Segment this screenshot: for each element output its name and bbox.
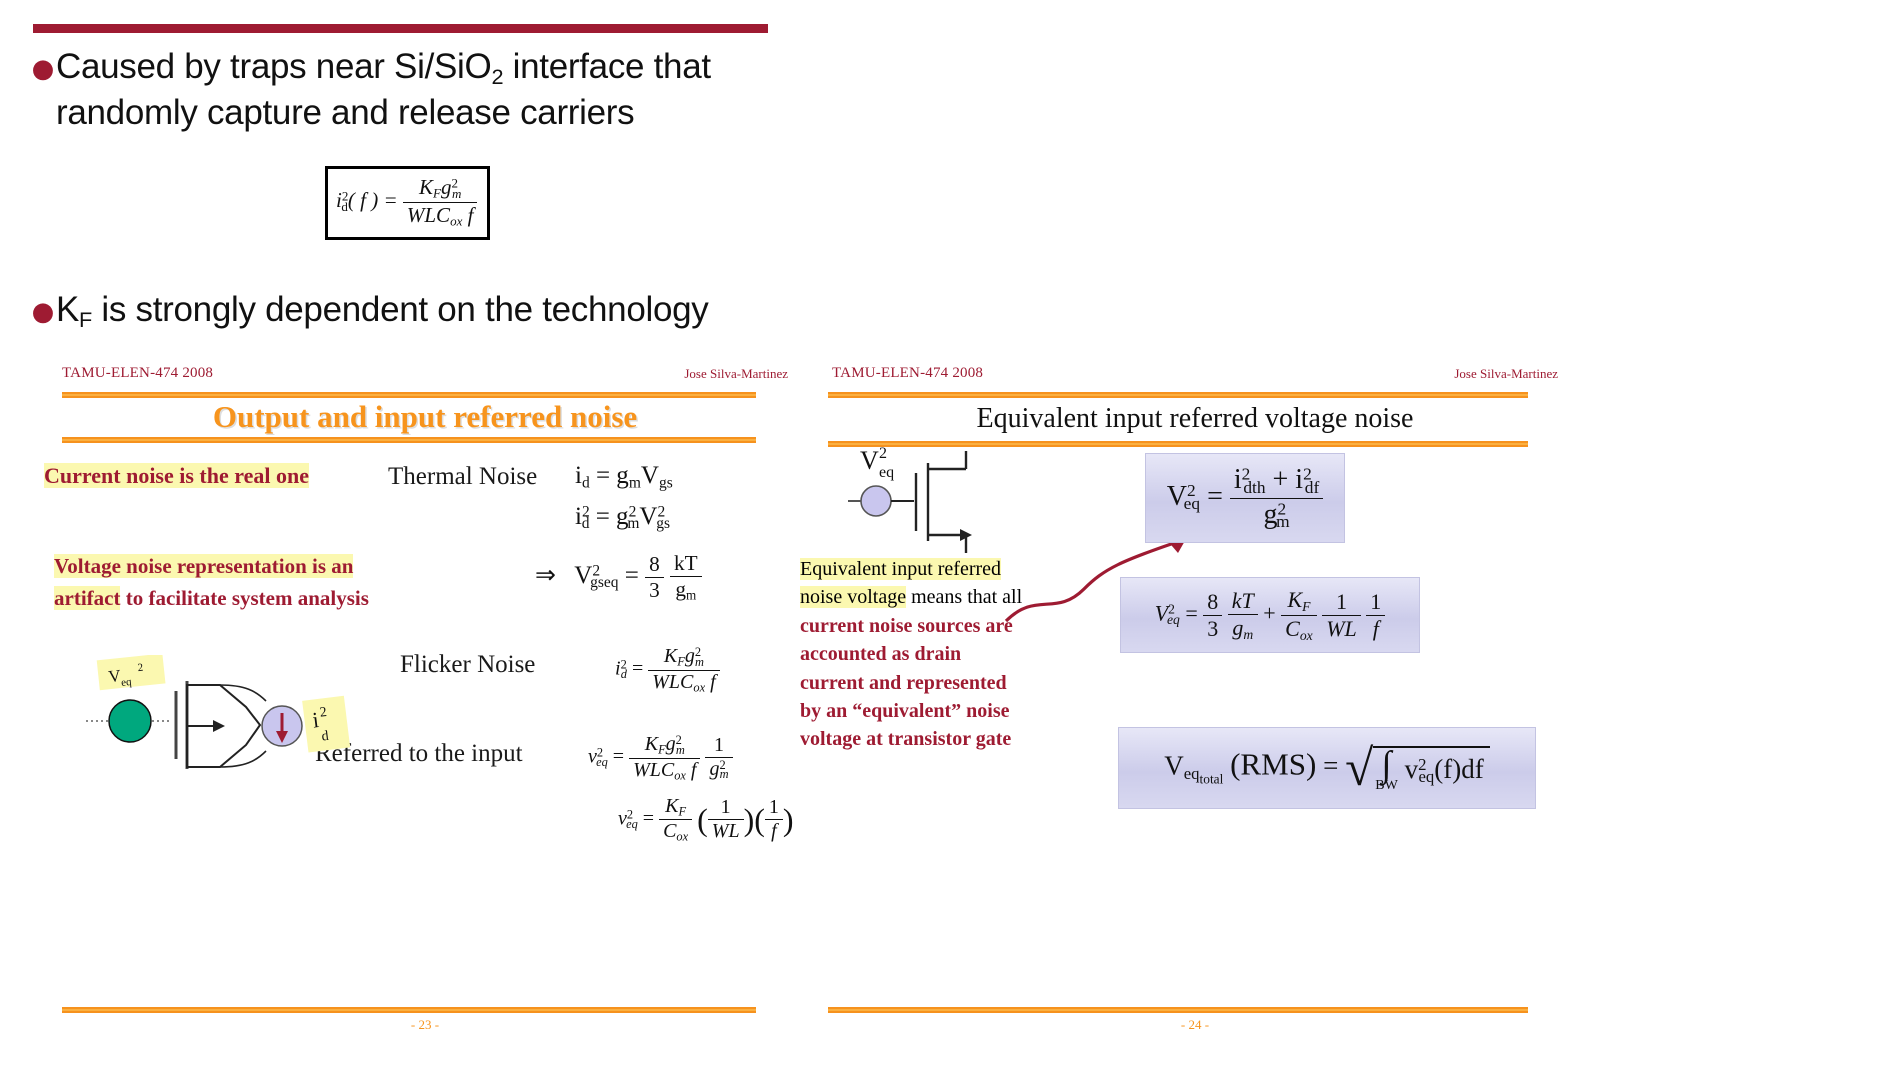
slide-23-title-underline	[62, 437, 756, 443]
para-plain: means that all	[906, 586, 1022, 608]
banner-boxed-equation: i2d( f ) = KFg2m WLCox f	[325, 166, 490, 240]
note-voltage-line2-rest: to facilitate system analysis	[120, 586, 368, 610]
slide-24-equation-box-3: Veqtotal (RMS) = √ ∫BW v2eq(f)df	[1118, 727, 1536, 809]
bullet-item-2: ● KF is strongly dependent on the techno…	[30, 288, 830, 336]
id-label-tag: i 2 d	[302, 696, 350, 753]
slide-24-equation-box-2: V2eq = 83 kTgm + KFCox 1WL 1f	[1120, 577, 1420, 653]
slide-23-note-current-noise: Current noise is the real one	[44, 463, 309, 489]
slide-24-page-number: - 24 -	[800, 1017, 1590, 1033]
slide-23-circuit-diagram: V eq 2	[70, 655, 370, 795]
eq-denominator: WLCox f	[403, 203, 478, 230]
note-voltage-line1: Voltage noise representation is an	[54, 554, 353, 578]
slide-23-bottom-rule	[62, 1007, 756, 1013]
para-red-1: current noise sources are	[800, 612, 1090, 640]
equation-vrms: Veqtotal (RMS) = √ ∫BW v2eq(f)df	[1164, 739, 1489, 798]
bullet-1-sub: 2	[491, 64, 503, 89]
slide-24[interactable]: TAMU-ELEN-474 2008 Jose Silva-Martinez E…	[800, 355, 1590, 1065]
label-thermal-noise: Thermal Noise	[388, 463, 537, 491]
para-red-2: accounted as drain	[800, 640, 1090, 668]
bullet-dot-icon-2: ●	[30, 288, 56, 336]
equation-thermal-2: i2d = g2mV2gs	[575, 503, 670, 533]
para-red-4: by an “equivalent” noise	[800, 697, 1090, 725]
equation-veq-expanded: V2eq = 83 kTgm + KFCox 1WL 1f	[1155, 587, 1386, 644]
note-voltage-line2-hl: artifact	[54, 586, 120, 610]
note-current-noise-text: Current noise is the real one	[44, 463, 309, 488]
slide-23-page-number: - 23 -	[30, 1017, 820, 1033]
slide-23[interactable]: TAMU-ELEN-474 2008 Jose Silva-Martinez O…	[30, 355, 820, 1065]
bullet-2-sub: F	[79, 307, 92, 332]
svg-text:2: 2	[879, 445, 887, 462]
svg-text:V: V	[860, 446, 879, 475]
equation-thermal-1: id = gmVgs	[575, 462, 673, 492]
slide-24-equation-box-1: V2eq = i2dth + i2dfg2m	[1145, 453, 1345, 543]
label-flicker-noise: Flicker Noise	[400, 651, 535, 679]
para-red-5: voltage at transistor gate	[800, 725, 1090, 753]
bullet-item-1: ● Caused by traps near Si/SiO2 interface…	[30, 45, 830, 136]
slide-23-title: Output and input referred noise	[30, 399, 820, 435]
banner-bullet-list: ● Caused by traps near Si/SiO2 interface…	[30, 45, 830, 140]
slide-23-top-rule	[62, 392, 756, 398]
bullet-1-pre: Caused by traps near Si/SiO	[56, 47, 491, 86]
eq-num-g-sub: m	[452, 186, 461, 201]
eq-num-K: K	[419, 175, 433, 199]
eq-fraction: KFg2m WLCox f	[403, 175, 478, 229]
slide-24-header: TAMU-ELEN-474 2008 Jose Silva-Martinez	[800, 355, 1590, 389]
voltage-source-icon	[109, 700, 151, 742]
bullet-2-text: KF is strongly dependent on the technolo…	[56, 288, 709, 334]
slide-23-header: TAMU-ELEN-474 2008 Jose Silva-Martinez	[30, 355, 820, 389]
para-hl-1: Equivalent input referred	[800, 558, 1001, 580]
svg-text:eq: eq	[879, 464, 894, 481]
veq-label-tag: V eq 2	[97, 655, 166, 691]
eq-lhs-arg: ( f ) =	[348, 188, 398, 212]
bullet-2-pre: K	[56, 290, 79, 329]
source-node-icon	[861, 486, 891, 516]
slide-24-bottom-rule	[828, 1007, 1528, 1013]
equation-veq-definition: V2eq = i2dth + i2dfg2m	[1167, 464, 1324, 533]
eq-den-wlc: WLC	[407, 203, 450, 227]
equation-referred-2: v2eq = KFCox (1WL)(1f)	[618, 795, 794, 845]
banner-bullet-list-2: ● KF is strongly dependent on the techno…	[30, 288, 830, 340]
top-accent-rule	[33, 24, 768, 33]
slide-23-course-label: TAMU-ELEN-474 2008	[62, 365, 213, 382]
equation-referred-1: v2eq = KFg2mWLCox f 1g2m	[588, 733, 733, 783]
bullet-dot-icon: ●	[30, 45, 56, 93]
eq-den-f: f	[468, 203, 474, 227]
slide-24-paragraph: Equivalent input referred noise voltage …	[800, 555, 1090, 754]
bullet-2-post: is strongly dependent on the technology	[92, 290, 709, 329]
slide-24-author-label: Jose Silva-Martinez	[1454, 366, 1558, 382]
para-hl-2: noise voltage	[800, 586, 906, 608]
equation-flicker-1: i2d = KFg2mWLCox f	[615, 645, 720, 695]
eq-num-g: g	[441, 175, 452, 199]
slide-24-course-label: TAMU-ELEN-474 2008	[832, 365, 983, 382]
slide-23-note-voltage-noise: Voltage noise representation is an artif…	[54, 551, 474, 614]
bullet-1-text: Caused by traps near Si/SiO2 interface t…	[56, 45, 746, 136]
eq-num-K-sub: F	[433, 186, 441, 201]
equation-thermal-3: ⇒ V2gseq = 83 kTgm	[535, 551, 702, 604]
slide-24-top-rule	[828, 392, 1528, 398]
slide-24-title: Equivalent input referred voltage noise	[800, 403, 1590, 435]
slide-23-author-label: Jose Silva-Martinez	[684, 366, 788, 382]
circuit-svg: V eq 2	[70, 655, 370, 795]
slide-deck-page: ● Caused by traps near Si/SiO2 interface…	[0, 0, 1893, 1065]
eq-numerator: KFg2m	[403, 175, 478, 203]
para-red-3: current and represented	[800, 669, 1090, 697]
eq-den-sub: ox	[450, 213, 462, 228]
svg-text:eq: eq	[121, 676, 133, 689]
